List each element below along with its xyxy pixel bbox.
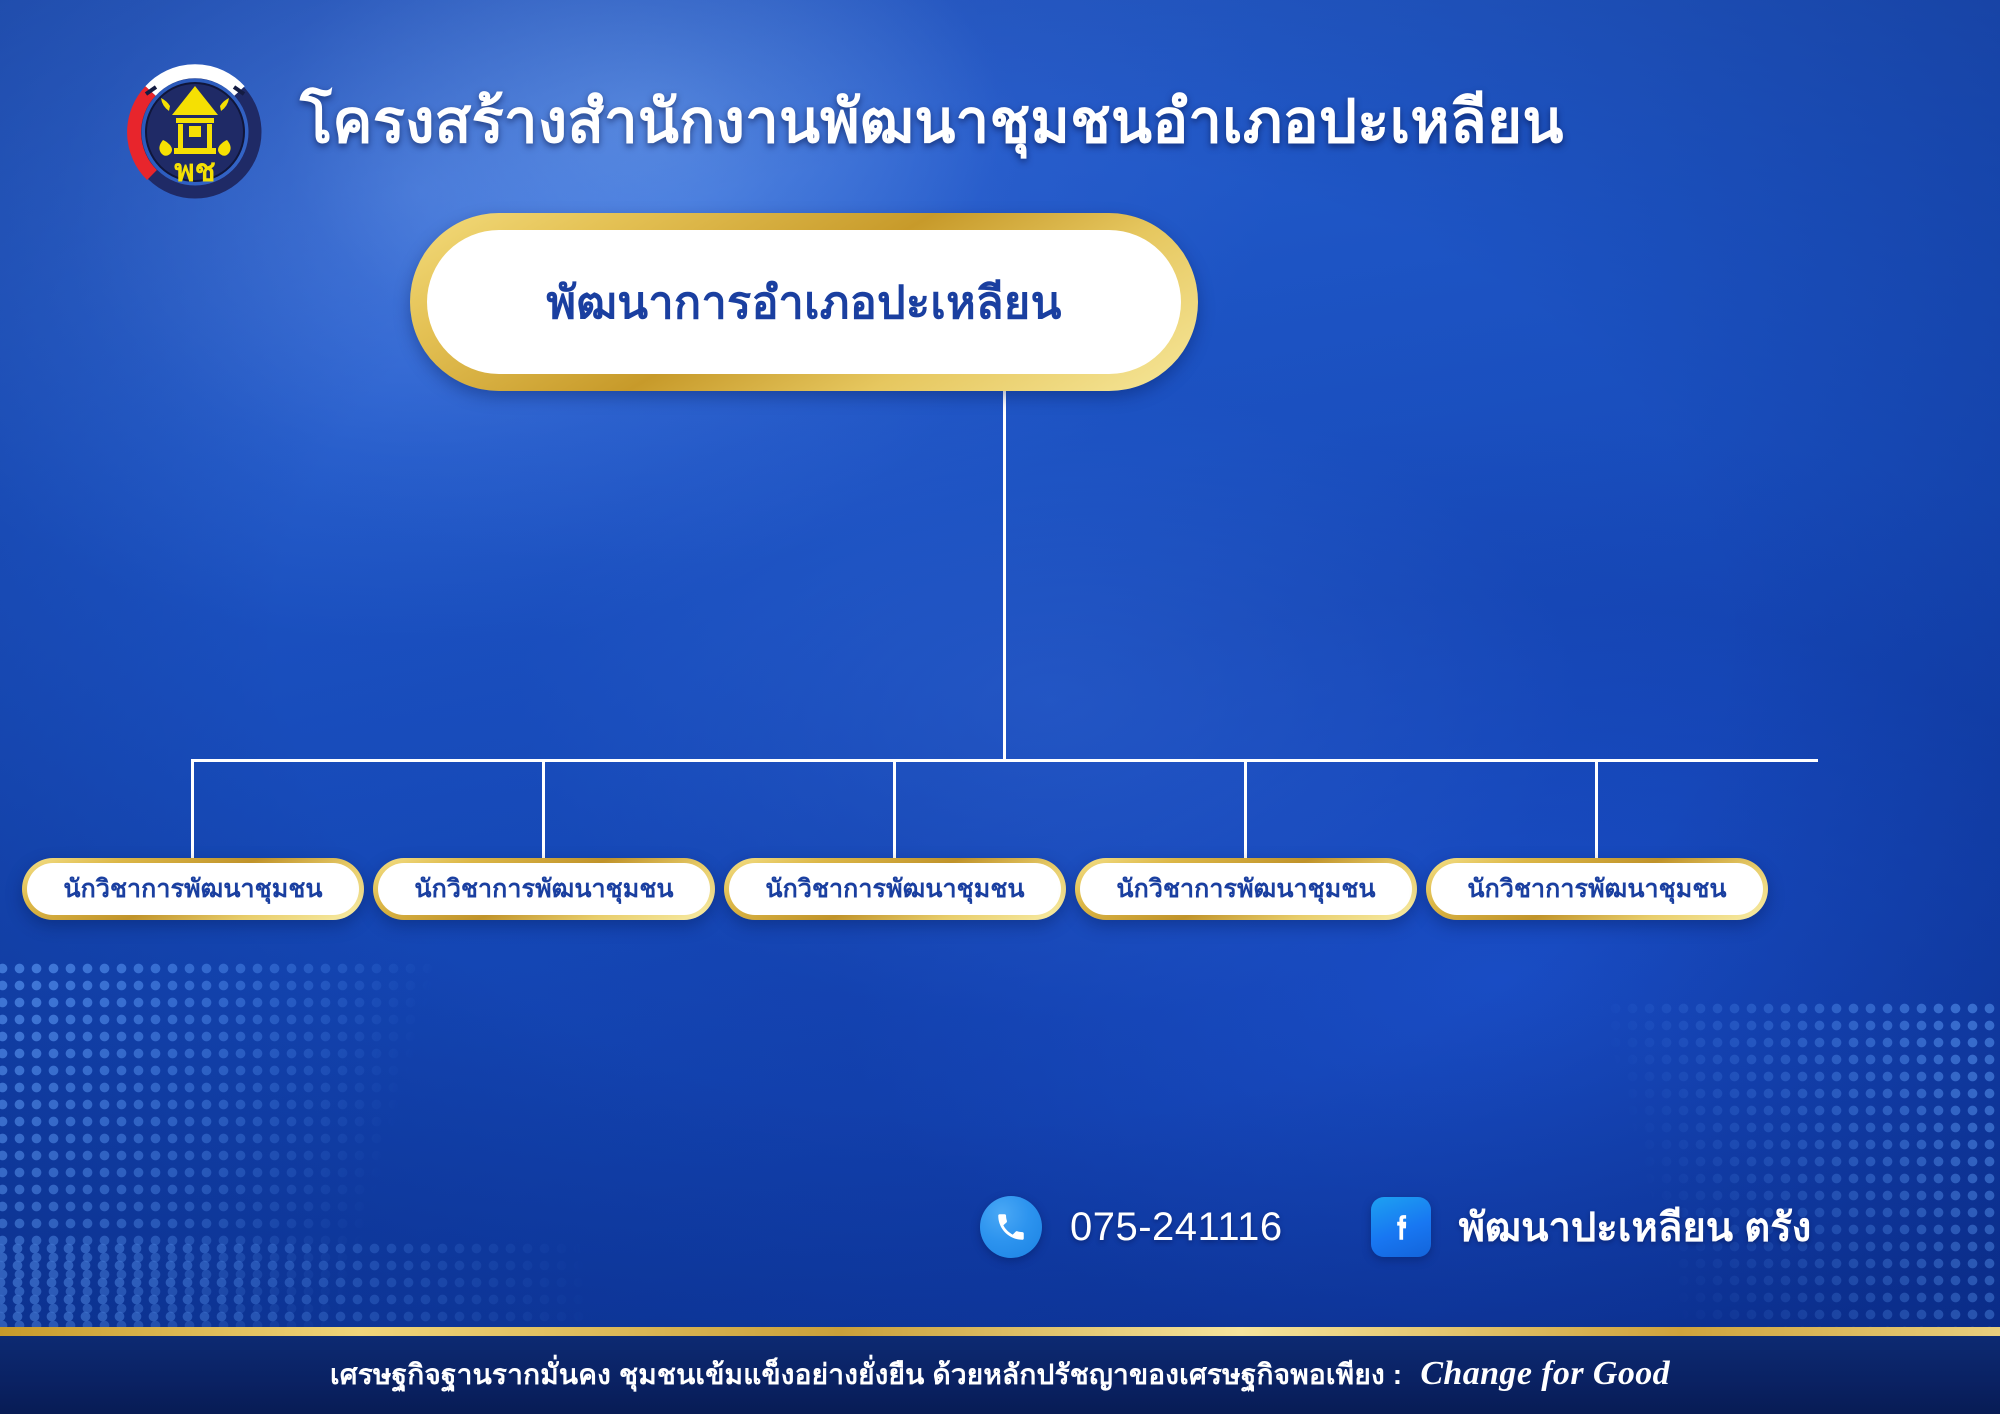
phone-icon — [980, 1196, 1042, 1258]
org-node-child-3: นักวิชาการพัฒนาชุมชน — [724, 858, 1066, 920]
contact-row: 075-241116 พัฒนาปะเหลียน ตรัง — [980, 1192, 1811, 1262]
connector-drop-4 — [1244, 759, 1247, 858]
phone-contact[interactable]: 075-241116 — [980, 1196, 1283, 1258]
facebook-page-name: พัฒนาปะเหลียน ตรัง — [1459, 1195, 1812, 1259]
facebook-icon — [1371, 1197, 1431, 1257]
connector-drop-3 — [893, 759, 896, 858]
connector-drop-1 — [191, 759, 194, 858]
org-node-root: พัฒนาการอำเภอปะเหลียน — [410, 213, 1198, 391]
poster-canvas: พช โครงสร้างสำนักงานพัฒนาชุมชนอำเภอปะเหล… — [0, 0, 2000, 1414]
phone-number: 075-241116 — [1070, 1205, 1283, 1250]
connector-drop-5 — [1595, 759, 1598, 858]
connector-horizontal-bus — [191, 759, 1818, 762]
footer-gold-divider — [0, 1327, 2000, 1336]
facebook-contact[interactable]: พัฒนาปะเหลียน ตรัง — [1283, 1195, 1812, 1259]
org-node-child-5: นักวิชาการพัฒนาชุมชน — [1426, 858, 1768, 920]
footer-motto: เศรษฐกิจฐานรากมั่นคง ชุมชนเข้มแข็งอย่างย… — [330, 1353, 1402, 1397]
org-node-child-1: นักวิชาการพัฒนาชุมชน — [22, 858, 364, 920]
footer-bar: เศรษฐกิจฐานรากมั่นคง ชุมชนเข้มแข็งอย่างย… — [0, 1336, 2000, 1414]
connector-drop-2 — [542, 759, 545, 858]
org-node-child-4: นักวิชาการพัฒนาชุมชน — [1075, 858, 1417, 920]
connector-root-vertical — [1003, 391, 1006, 761]
footer-slogan: Change for Good — [1420, 1355, 1670, 1393]
org-node-child-2: นักวิชาการพัฒนาชุมชน — [373, 858, 715, 920]
